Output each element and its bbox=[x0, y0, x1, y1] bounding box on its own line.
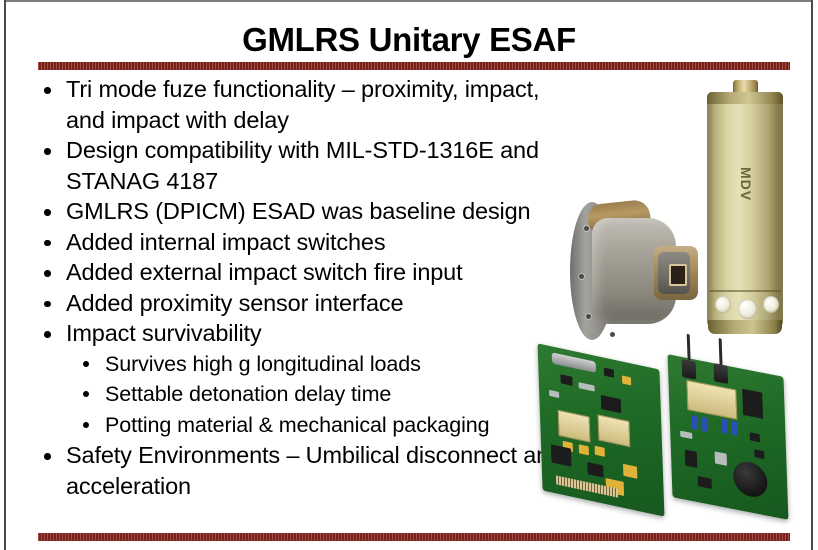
pcb-resistor bbox=[680, 431, 692, 439]
housing-bolt-hole bbox=[610, 332, 615, 337]
proximity-sensor-window bbox=[738, 299, 757, 319]
bullet-dot-icon bbox=[44, 87, 51, 94]
pcb-chip bbox=[698, 476, 712, 489]
bullet-item: Added external impact switch fire input bbox=[38, 257, 583, 288]
pcb-toggle-switch bbox=[714, 363, 729, 384]
bullet-item: Added proximity sensor interface bbox=[38, 288, 583, 319]
pcb-gold-component bbox=[623, 464, 637, 479]
fuze-base-ring bbox=[708, 320, 782, 334]
slide-title: GMLRS Unitary ESAF bbox=[6, 20, 812, 60]
pcb-gold-component bbox=[579, 444, 589, 455]
pcb-blue-capacitor bbox=[721, 419, 727, 434]
bullet-dot-icon bbox=[44, 240, 51, 247]
sub-bullet-item: Potting material & mechanical packaging bbox=[38, 410, 583, 441]
title-divider-rule bbox=[38, 62, 790, 70]
bullet-item: Design compatibility with MIL-STD-1316E … bbox=[38, 135, 583, 196]
housing-square-socket bbox=[669, 264, 687, 286]
bullet-text: Added external impact switch fire input bbox=[66, 257, 583, 288]
sub-bullet-text: Settable detonation delay time bbox=[105, 379, 583, 410]
bullet-dot-icon bbox=[44, 453, 51, 460]
pcb-chip bbox=[754, 449, 764, 459]
pcb-inductor bbox=[715, 451, 727, 465]
slide-canvas: GMLRS Unitary ESAF Tri mode fuze functio… bbox=[0, 0, 818, 550]
bullet-text: Design compatibility with MIL-STD-1316E … bbox=[66, 135, 583, 196]
pcb-toggle-switch bbox=[682, 359, 697, 380]
circuit-board-right-photo bbox=[668, 354, 789, 520]
pcb-chip bbox=[750, 432, 760, 442]
slide-frame-right-edge bbox=[811, 0, 813, 550]
pcb-gold-component bbox=[595, 446, 605, 457]
pcb-coin-cell-battery bbox=[733, 459, 768, 500]
sub-bullet-dot-icon bbox=[83, 361, 89, 367]
grey-fuze-housing-photo bbox=[562, 196, 704, 346]
sub-bullet-item: Survives high g longitudinal loads bbox=[38, 349, 583, 380]
proximity-sensor-window bbox=[763, 296, 779, 313]
bullet-text: Added internal impact switches bbox=[66, 227, 583, 258]
bullet-text: GMLRS (DPICM) ESAD was baseline design bbox=[66, 196, 583, 227]
pcb-chip bbox=[560, 374, 572, 386]
pcb-black-power-module bbox=[742, 389, 763, 419]
bullet-item: Impact survivability bbox=[38, 318, 583, 349]
bullet-text: Added proximity sensor interface bbox=[66, 288, 583, 319]
pcb-blue-capacitor bbox=[701, 417, 707, 432]
slide-frame-left-edge bbox=[4, 0, 6, 550]
fuze-top-cap bbox=[707, 92, 783, 104]
footer-divider-rule bbox=[38, 533, 790, 541]
sub-bullet-dot-icon bbox=[83, 422, 89, 428]
bullet-text: Impact survivability bbox=[66, 318, 583, 349]
pcb-blue-capacitor bbox=[731, 421, 737, 436]
fuze-seam-line bbox=[709, 290, 781, 292]
pcb-chip bbox=[587, 462, 603, 478]
pcb-blue-capacitor bbox=[691, 415, 697, 430]
pcb-chip bbox=[601, 395, 621, 413]
pcb-chip bbox=[551, 444, 572, 466]
pcb-oscillator-module bbox=[597, 414, 630, 447]
bullet-item: Added internal impact switches bbox=[38, 227, 583, 258]
housing-bolt-hole bbox=[584, 226, 589, 231]
bullet-dot-icon bbox=[44, 331, 51, 338]
housing-bolt-hole bbox=[586, 314, 591, 319]
circuit-board-left-photo bbox=[537, 343, 664, 516]
pcb-resistor bbox=[579, 382, 595, 391]
pcb-chip bbox=[685, 450, 698, 468]
bullet-text: Safety Environments – Umbilical disconne… bbox=[66, 440, 583, 501]
bullet-dot-icon bbox=[44, 301, 51, 308]
bullet-text: Tri mode fuze functionality – proximity,… bbox=[66, 74, 583, 135]
pcb-resistor bbox=[549, 390, 559, 398]
sub-bullet-dot-icon bbox=[83, 391, 89, 397]
fuze-engraved-label: MDV bbox=[738, 167, 754, 201]
bullet-list: Tri mode fuze functionality – proximity,… bbox=[38, 74, 583, 501]
sub-bullet-text: Survives high g longitudinal loads bbox=[105, 349, 583, 380]
slide-frame-top-edge bbox=[4, 0, 813, 2]
pcb-gold-component bbox=[622, 375, 631, 385]
bullet-dot-icon bbox=[44, 209, 51, 216]
bullet-dot-icon bbox=[44, 148, 51, 155]
bullet-dot-icon bbox=[44, 270, 51, 277]
brass-fuze-cylinder-photo: MDV bbox=[707, 80, 783, 340]
pcb-switch-pin bbox=[719, 338, 723, 367]
sub-bullet-item: Settable detonation delay time bbox=[38, 379, 583, 410]
pcb-chip bbox=[604, 368, 614, 378]
pcb-gold-transformer-module bbox=[686, 380, 737, 420]
bullet-item: Tri mode fuze functionality – proximity,… bbox=[38, 74, 583, 135]
bullet-item: Safety Environments – Umbilical disconne… bbox=[38, 440, 583, 501]
bullet-item: GMLRS (DPICM) ESAD was baseline design bbox=[38, 196, 583, 227]
sub-bullet-text: Potting material & mechanical packaging bbox=[105, 410, 583, 441]
pcb-oscillator-module bbox=[558, 410, 591, 443]
proximity-sensor-window bbox=[715, 296, 731, 313]
housing-bolt-hole bbox=[579, 274, 584, 279]
pcb-metal-can-component bbox=[552, 352, 596, 373]
